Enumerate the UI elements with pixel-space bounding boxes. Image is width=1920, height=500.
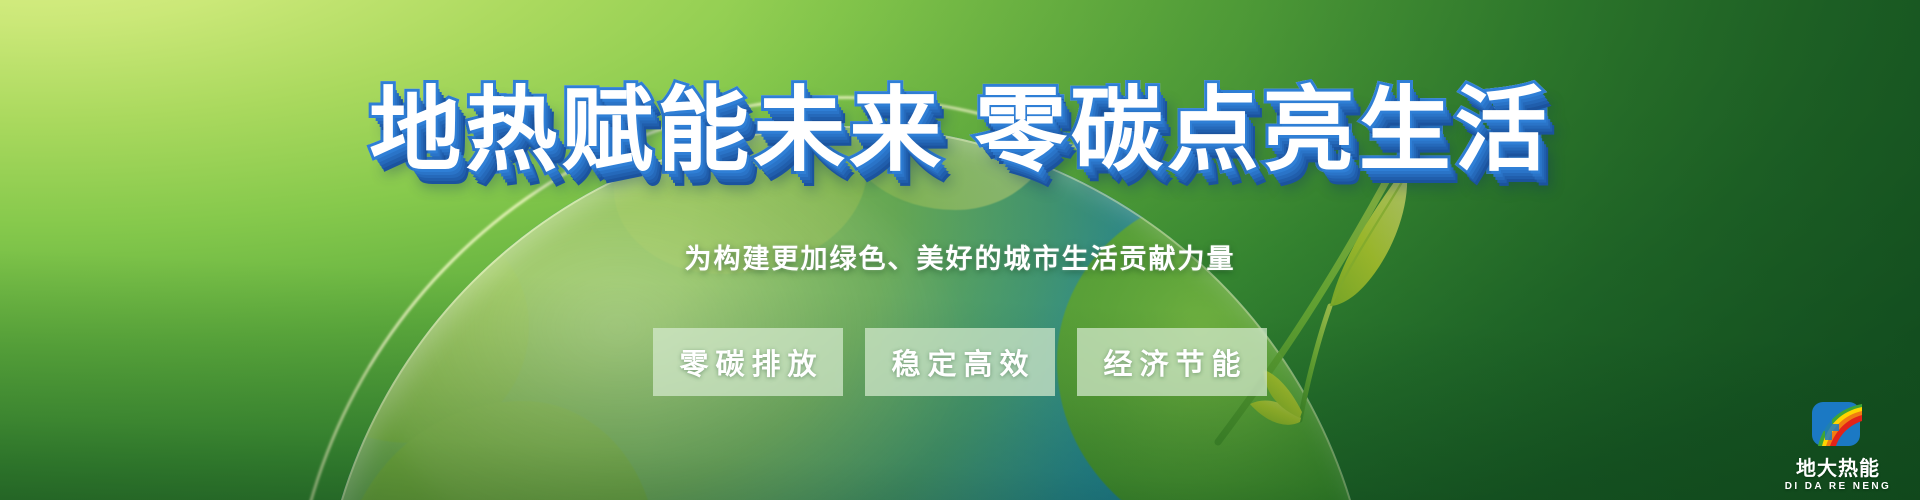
page-subtitle: 为构建更加绿色、美好的城市生活贡献力量 — [0, 237, 1920, 276]
page-title: 地热赋能未来 零碳点亮生活 — [0, 56, 1920, 189]
hero-banner: 地热赋能未来 零碳点亮生活 为构建更加绿色、美好的城市生活贡献力量 零碳排放 稳… — [0, 0, 1920, 500]
brand-name-cn: 地大热能 — [1796, 459, 1880, 479]
feature-tag-economical[interactable]: 经济节能 — [1077, 328, 1267, 396]
didareneng-rainbow-mark — [1808, 402, 1868, 454]
page-title-text: 地热赋能未来 零碳点亮生活 — [369, 80, 1551, 182]
feature-tag-list: 零碳排放 稳定高效 经济节能 — [0, 328, 1920, 396]
feature-tag-stable-efficient[interactable]: 稳定高效 — [865, 328, 1055, 396]
brand-logo[interactable]: 地大热能 DI DA RE NENG — [1778, 402, 1898, 492]
brand-name-en: DI DA RE NENG — [1785, 482, 1891, 492]
feature-tag-zero-carbon[interactable]: 零碳排放 — [653, 328, 843, 396]
